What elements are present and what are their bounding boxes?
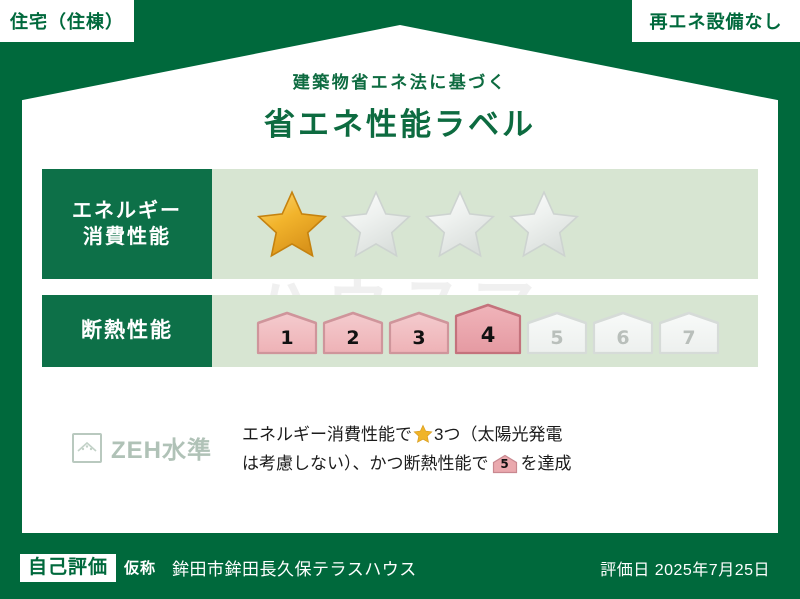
insulation-performance-row: 断熱性能 1234567 xyxy=(42,295,758,367)
insulation-grade-house-2: 2 xyxy=(322,311,384,355)
energy-performance-label-block: エネルギー 消費性能 xyxy=(42,169,212,279)
insulation-grade-house-6: 6 xyxy=(592,311,654,355)
page-title: 省エネ性能ラベル xyxy=(0,99,800,144)
inline-grade-house-icon: 5 xyxy=(492,454,518,474)
energy-label-line1: エネルギー xyxy=(72,198,182,224)
insulation-performance-value: 1234567 xyxy=(212,295,758,367)
zeh-mark: ZEH水準 xyxy=(42,418,242,465)
insulation-grade-house-5: 5 xyxy=(526,311,588,355)
energy-performance-value xyxy=(212,169,758,279)
star-empty-icon xyxy=(424,189,496,259)
zeh-description: エネルギー消費性能で3つ（太陽光発電 は考慮しない）、かつ断熱性能で5を達成 xyxy=(242,418,758,478)
star-rating-track xyxy=(256,189,580,259)
inline-star-icon xyxy=(413,424,433,444)
insulation-performance-label-block: 断熱性能 xyxy=(42,295,212,367)
insulation-grade-value: 7 xyxy=(658,327,720,349)
energy-performance-row: エネルギー 消費性能 xyxy=(42,169,758,279)
zeh-house-icon xyxy=(72,433,102,463)
zeh-standard-block: ZEH水準 エネルギー消費性能で3つ（太陽光発電 は考慮しない）、かつ断熱性能で… xyxy=(42,418,758,478)
footer-left-group: 自己評価 仮称 鉾田市鉾田長久保テラスハウス xyxy=(20,554,600,583)
insulation-grade-track: 1234567 xyxy=(256,303,720,359)
building-type-tag: 住宅（住棟） xyxy=(0,0,136,44)
zeh-desc-part3: を達成 xyxy=(521,454,572,473)
inline-grade-value: 5 xyxy=(492,454,518,475)
insulation-grade-house-7: 7 xyxy=(658,311,720,355)
star-empty-icon xyxy=(340,189,412,259)
title-subtitle: 建築物省エネ法に基づく xyxy=(0,68,800,93)
star-empty-icon xyxy=(508,189,580,259)
insulation-grade-value: 1 xyxy=(256,327,318,349)
evaluation-type-badge: 自己評価 xyxy=(20,554,116,583)
building-type-tag-label: 住宅（住棟） xyxy=(10,8,124,34)
insulation-label-line1: 断熱性能 xyxy=(81,317,173,345)
evaluation-date: 評価日 2025年7月25日 xyxy=(600,556,780,580)
insulation-grade-value: 4 xyxy=(454,323,522,347)
zeh-mark-label: ZEH水準 xyxy=(111,430,212,465)
property-name: 鉾田市鉾田長久保テラスハウス xyxy=(172,555,417,580)
insulation-grade-value: 2 xyxy=(322,327,384,349)
label-footer: 自己評価 仮称 鉾田市鉾田長久保テラスハウス 評価日 2025年7月25日 xyxy=(0,537,800,599)
insulation-grade-value: 3 xyxy=(388,327,450,349)
renewable-equipment-tag-label: 再エネ設備なし xyxy=(650,8,783,34)
zeh-desc-part1: エネルギー消費性能で xyxy=(242,425,412,444)
star-filled-icon xyxy=(256,189,328,259)
property-name-prefix: 仮称 xyxy=(124,557,156,578)
energy-performance-label: ハウスマ 住宅（住棟） 再エネ設備なし 建築物省エネ法に基づく 省エネ性能ラベル… xyxy=(0,0,800,599)
insulation-grade-house-4: 4 xyxy=(454,303,522,355)
zeh-desc-star-count: 3つ（太陽光発電 xyxy=(434,425,562,444)
renewable-equipment-tag: 再エネ設備なし xyxy=(630,0,800,44)
insulation-grade-house-1: 1 xyxy=(256,311,318,355)
insulation-grade-value: 5 xyxy=(526,327,588,349)
label-title-block: 建築物省エネ法に基づく 省エネ性能ラベル xyxy=(0,68,800,144)
zeh-desc-part2: は考慮しない）、かつ断熱性能で xyxy=(242,454,489,473)
insulation-grade-value: 6 xyxy=(592,327,654,349)
energy-label-line2: 消費性能 xyxy=(83,224,171,250)
insulation-grade-house-3: 3 xyxy=(388,311,450,355)
